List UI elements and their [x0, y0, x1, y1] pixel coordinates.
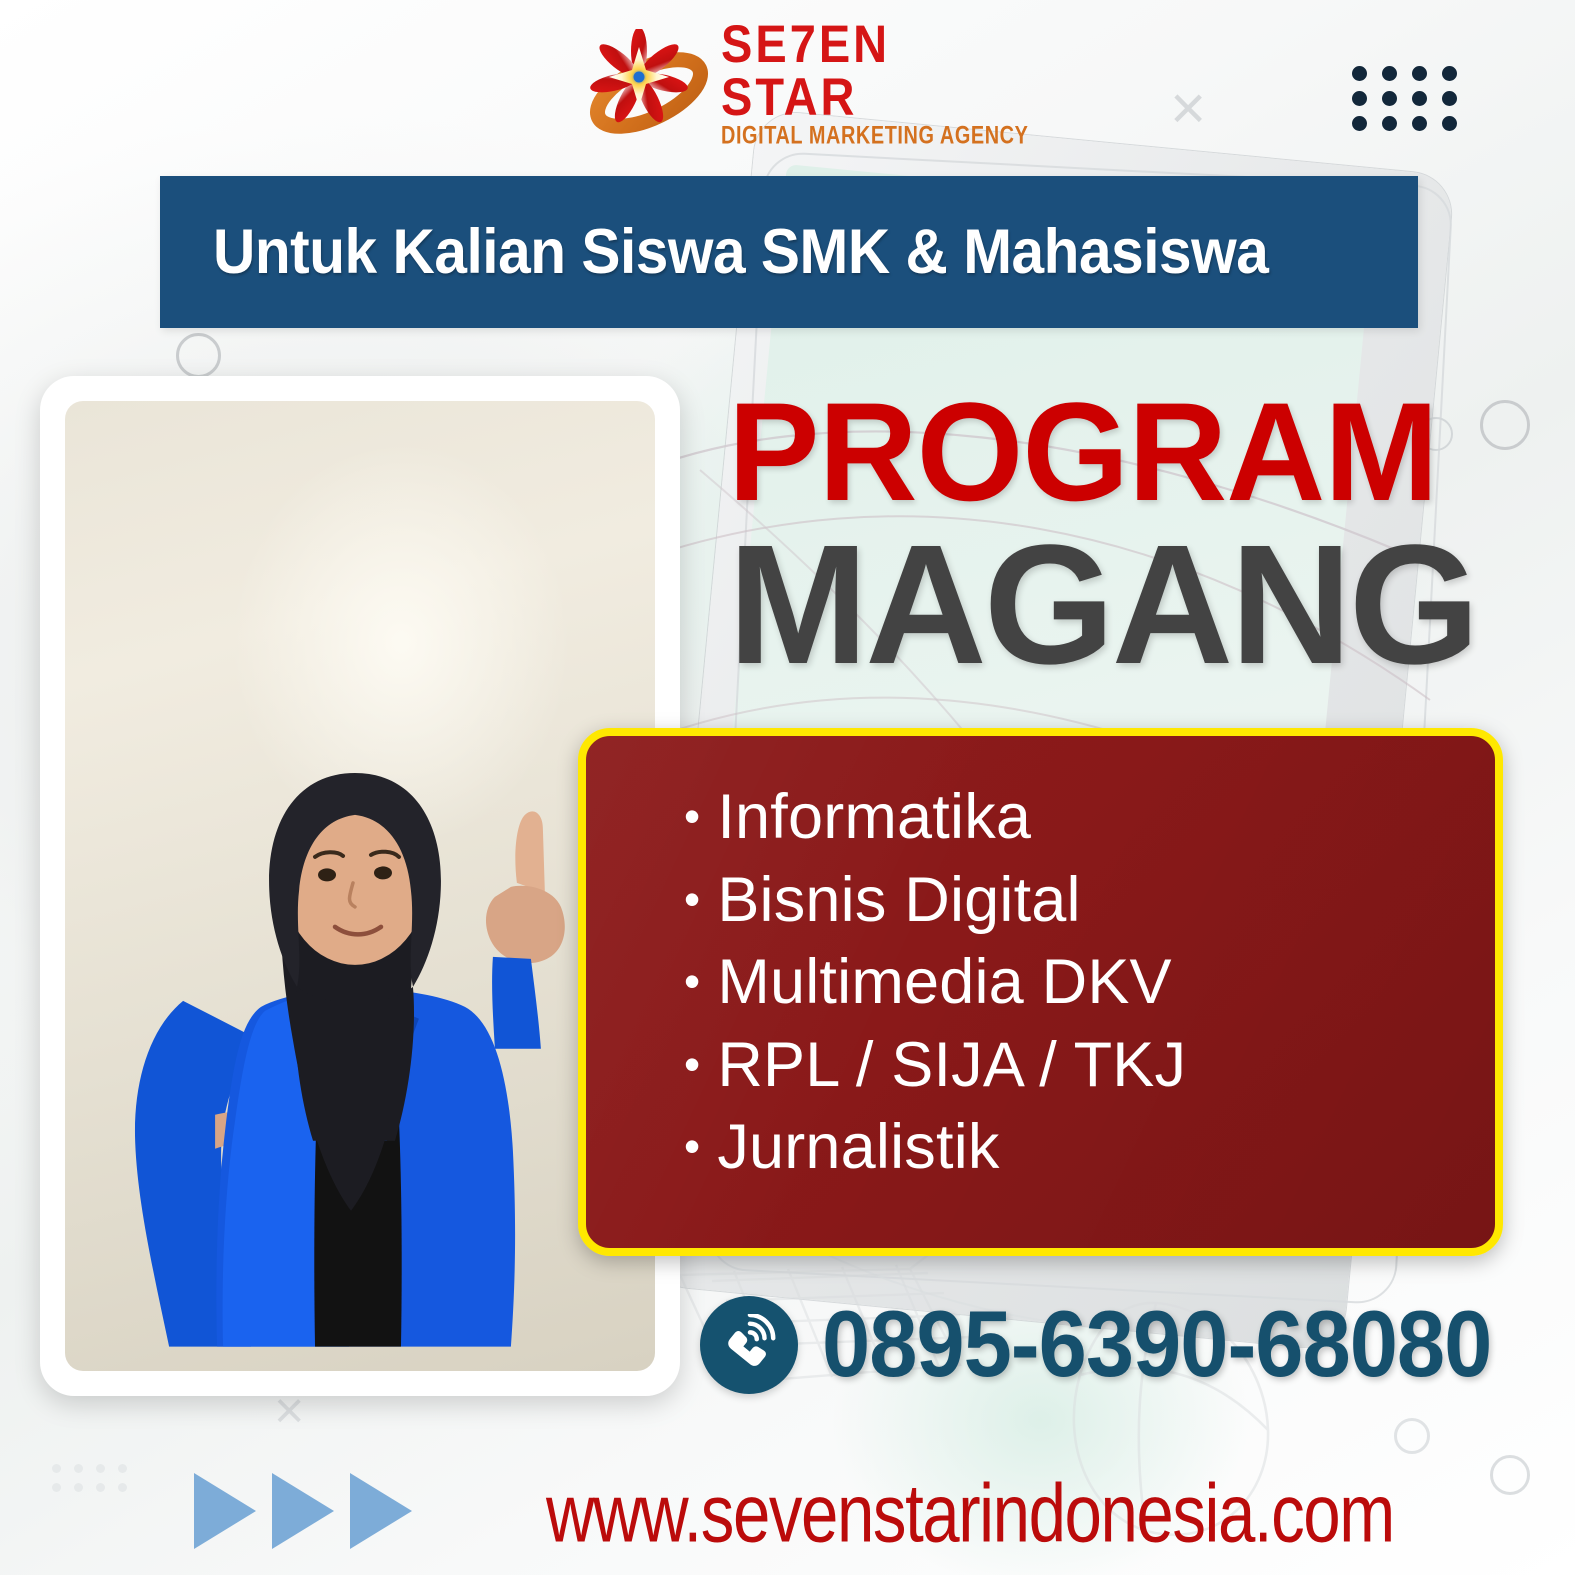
list-item-label: Bisnis Digital — [717, 859, 1080, 942]
list-item-label: RPL / SIJA / TKJ — [717, 1024, 1186, 1107]
list-item: • Jurnalistik — [684, 1106, 1495, 1189]
bullet-icon: • — [684, 793, 700, 839]
x-mark-decoration-top: × — [1170, 78, 1206, 140]
logo-brand-name: SE7EN STAR — [721, 18, 1038, 123]
dot-grid-decoration — [1352, 66, 1472, 141]
circle-decoration-bottom-right — [1490, 1455, 1530, 1495]
headline-banner: Untuk Kalian Siswa SMK & Mahasiswa — [160, 176, 1418, 328]
play-arrow-icon — [194, 1473, 256, 1549]
website-url[interactable]: www.sevenstarindonesia.com — [546, 1466, 1394, 1560]
list-item-label: Informatika — [717, 776, 1031, 859]
play-arrow-icon — [350, 1473, 412, 1549]
bullet-icon: • — [684, 1041, 700, 1087]
dot-grid-decoration-light — [52, 1464, 140, 1502]
banner-title: Untuk Kalian Siswa SMK & Mahasiswa — [160, 216, 1268, 288]
brand-logo: SE7EN STAR DIGITAL MARKETING AGENCY — [585, 25, 1015, 145]
bullet-icon: • — [684, 876, 700, 922]
logo-tagline: DIGITAL MARKETING AGENCY — [721, 124, 1028, 149]
list-item-label: Multimedia DKV — [717, 941, 1171, 1024]
main-headline: PROGRAM MAGANG — [728, 385, 1528, 687]
circle-decoration-bottom-right-2 — [1394, 1418, 1430, 1454]
contact-phone-row[interactable]: 0895-6390-68080 — [700, 1296, 1478, 1394]
arrow-decoration-group — [194, 1473, 412, 1549]
headline-program: PROGRAM — [728, 385, 1512, 519]
student-photo — [65, 401, 655, 1371]
headline-magang: MAGANG — [728, 525, 1520, 687]
phone-number[interactable]: 0895-6390-68080 — [822, 1291, 1491, 1399]
list-item: • Multimedia DKV — [684, 941, 1495, 1024]
circle-decoration-left — [176, 333, 221, 378]
phone-ringing-icon — [700, 1296, 798, 1394]
bullet-icon: • — [684, 958, 700, 1004]
list-item: • Informatika — [684, 776, 1495, 859]
photo-person-illustration — [65, 711, 655, 1371]
seven-star-flower-swoosh-logo-icon — [585, 29, 713, 141]
list-item: • RPL / SIJA / TKJ — [684, 1024, 1495, 1107]
program-list-box: • Informatika • Bisnis Digital • Multime… — [578, 728, 1503, 1256]
list-item: • Bisnis Digital — [684, 859, 1495, 942]
logo-text-block: SE7EN STAR DIGITAL MARKETING AGENCY — [721, 23, 1038, 147]
list-item-label: Jurnalistik — [717, 1106, 999, 1189]
poster-canvas: × × — [0, 0, 1575, 1575]
play-arrow-icon — [272, 1473, 334, 1549]
bullet-icon: • — [684, 1123, 700, 1169]
